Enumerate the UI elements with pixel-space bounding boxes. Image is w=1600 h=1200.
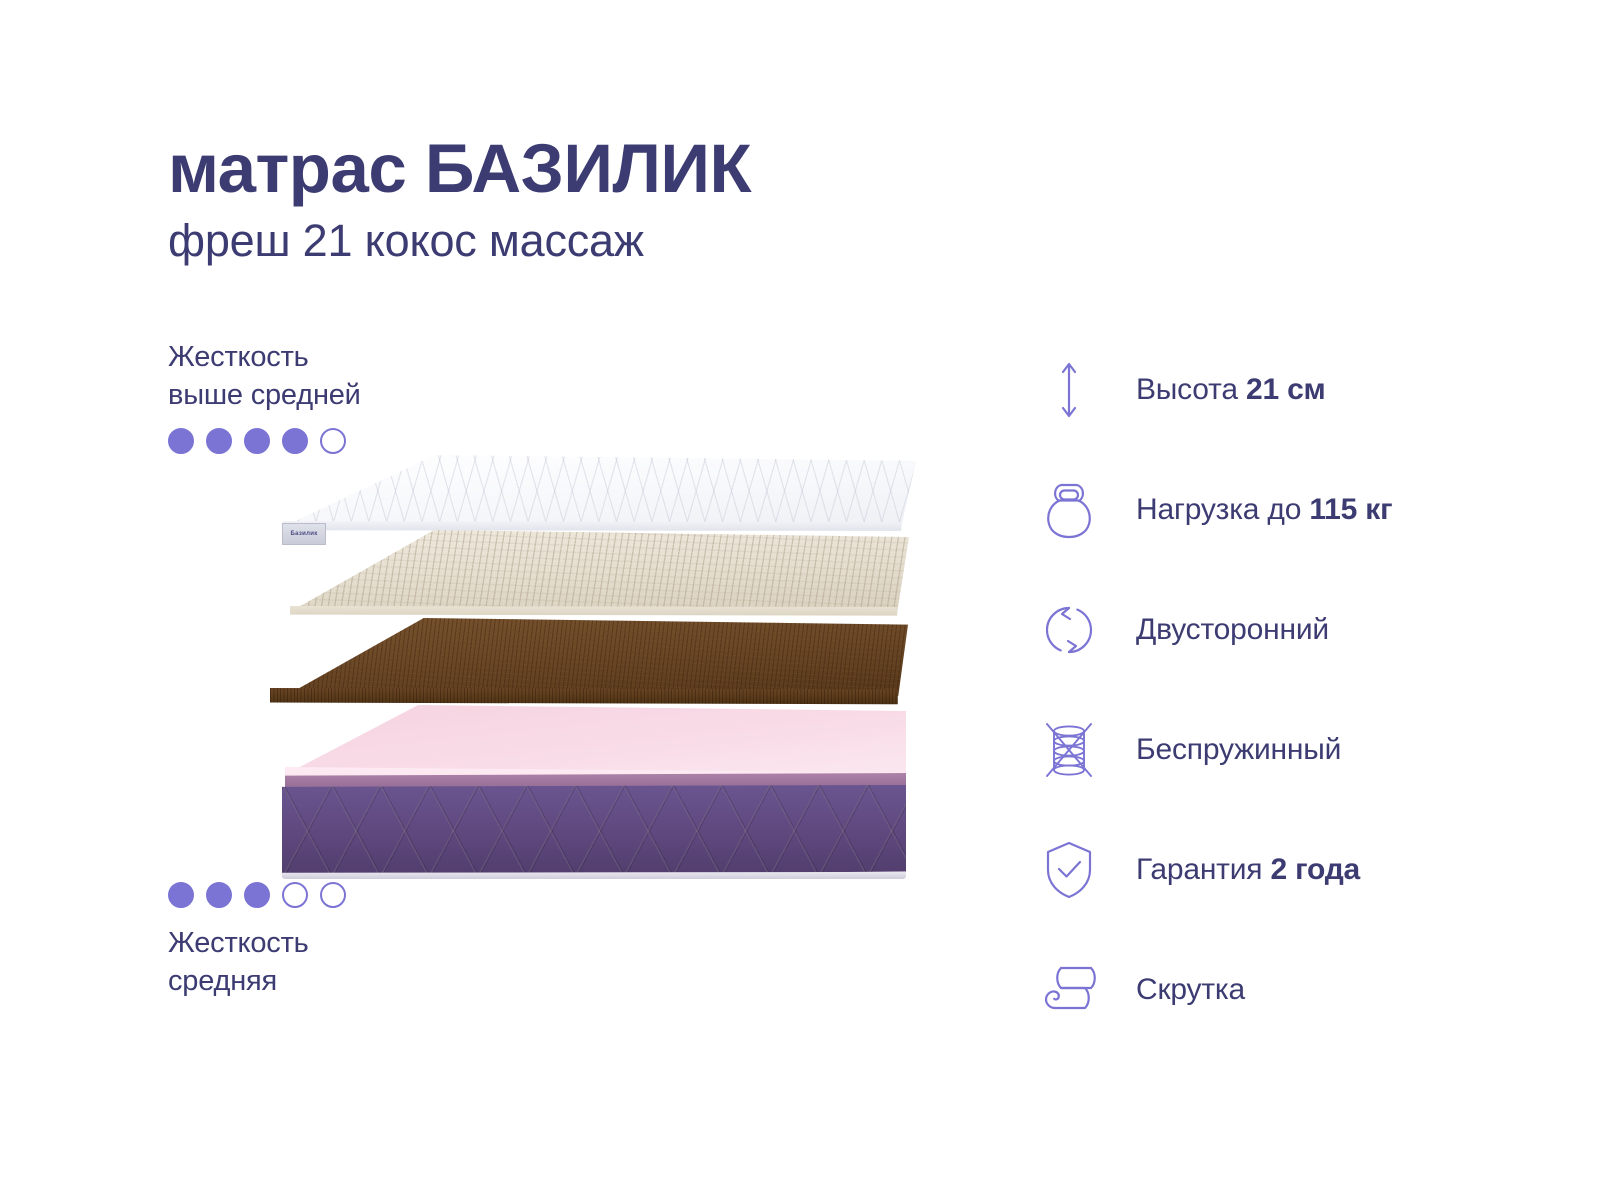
firmness-bottom-rating (168, 882, 498, 908)
feature-label: Двусторонний (1136, 612, 1329, 648)
feature-label-emphasis: 115 кг (1309, 493, 1392, 526)
base-quilted-front (282, 785, 906, 877)
firmness-top-rating (168, 428, 498, 454)
feature-label: Гарантия 2 года (1136, 852, 1360, 888)
firmness-top-label-line2: выше средней (168, 376, 498, 414)
firmness-bottom-block: Жесткость средняя (168, 882, 498, 1000)
firmness-top-dot-2 (206, 428, 232, 454)
firmness-top-dot-3 (244, 428, 270, 454)
feature-label-text: Двусторонний (1136, 613, 1329, 646)
firmness-bottom-dot-3 (244, 882, 270, 908)
base-piping (282, 872, 906, 879)
firmness-top-dot-4 (282, 428, 308, 454)
infographic-page: матрас БАЗИЛИК фреш 21 кокос массаж Жест… (0, 0, 1600, 1200)
feature-label-emphasis: 21 см (1246, 373, 1326, 406)
feature-label-text: Скрутка (1136, 973, 1245, 1006)
no-spring-icon (1040, 719, 1098, 781)
firmness-top-dot-1 (168, 428, 194, 454)
feature-row-no-spring: Беспружинный (1040, 690, 1510, 810)
firmness-bottom-dot-5 (320, 882, 346, 908)
page-subtitle: фреш 21 кокос массаж (168, 214, 1068, 268)
feature-label-text: Высота (1136, 373, 1246, 406)
firmness-bottom-dot-1 (168, 882, 194, 908)
firmness-bottom-label-line2: средняя (168, 962, 498, 1000)
feature-label-emphasis: 2 года (1270, 853, 1360, 886)
mattress-layers-illustration: Базилик (246, 455, 916, 875)
firmness-top-dot-5 (320, 428, 346, 454)
firmness-bottom-dot-2 (206, 882, 232, 908)
pink-foam-top-face (260, 705, 906, 775)
feature-label: Беспружинный (1136, 732, 1341, 768)
feature-label: Высота 21 см (1136, 372, 1326, 408)
kettlebell-icon (1040, 479, 1098, 541)
feature-label: Нагрузка до 115 кг (1136, 492, 1392, 528)
foam-cream-top-face (254, 530, 909, 612)
height-arrow-icon (1040, 359, 1098, 421)
feature-row-height-arrow: Высота 21 см (1040, 330, 1510, 450)
shield-check-icon (1040, 839, 1098, 901)
coir-top-face (258, 618, 908, 696)
rotate-icon (1040, 599, 1098, 661)
feature-label-text: Беспружинный (1136, 733, 1341, 766)
firmness-bottom-label-line1: Жесткость (168, 924, 498, 962)
feature-row-roll-up: Скрутка (1040, 930, 1510, 1050)
feature-label: Скрутка (1136, 972, 1245, 1008)
roll-up-icon (1040, 959, 1098, 1021)
page-title: матрас БАЗИЛИК (168, 132, 1068, 206)
title-block: матрас БАЗИЛИК фреш 21 кокос массаж (168, 132, 1068, 268)
mattress-layer-egg-crate-foam (254, 530, 909, 630)
feature-row-shield-check: Гарантия 2 года (1040, 810, 1510, 930)
firmness-top-label-line1: Жесткость (168, 338, 498, 376)
firmness-top-block: Жесткость выше средней (168, 338, 498, 454)
firmness-bottom-dot-4 (282, 882, 308, 908)
feature-row-rotate: Двусторонний (1040, 570, 1510, 690)
feature-row-kettlebell: Нагрузка до 115 кг (1040, 450, 1510, 570)
feature-label-text: Гарантия (1136, 853, 1270, 886)
cover-top-face (246, 455, 916, 527)
feature-label-text: Нагрузка до (1136, 493, 1309, 526)
mattress-layer-coconut-coir (258, 618, 908, 718)
mattress-layer-purple-base (260, 773, 906, 879)
feature-list: Высота 21 см Нагрузка до 115 кг Двусторо… (1040, 330, 1510, 1050)
